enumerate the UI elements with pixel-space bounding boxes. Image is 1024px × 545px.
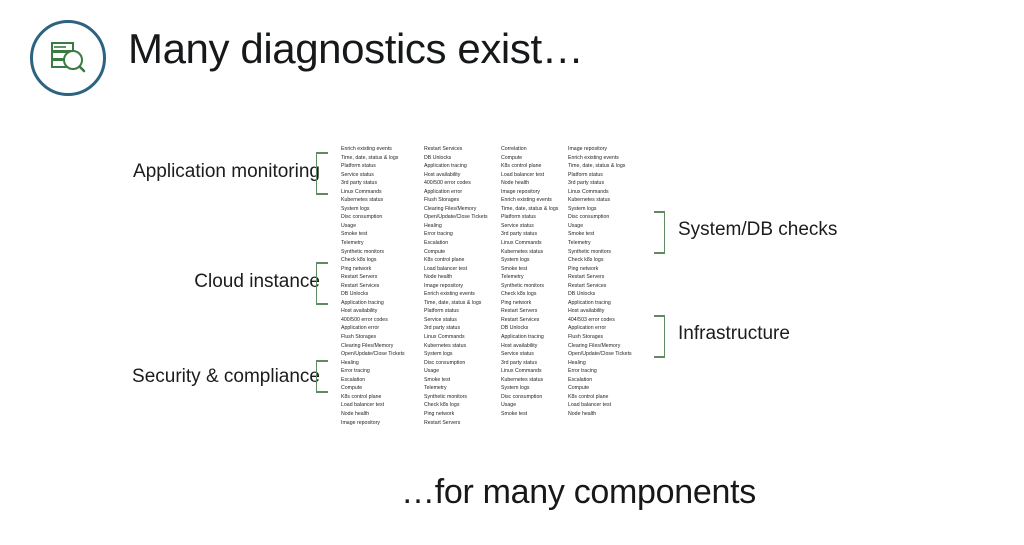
category-label-application-monitoring: Application monitoring <box>133 161 320 183</box>
diagnostic-item: Restart Servers <box>501 307 558 316</box>
diagnostic-item: Check k8s logs <box>568 256 632 265</box>
diagnostic-item: K8s control plane <box>424 256 488 265</box>
diagnostic-item: Clearing Files/Memory <box>424 205 488 214</box>
diagnostic-item: Compute <box>501 154 558 163</box>
diagnostic-item: Image repository <box>424 282 488 291</box>
bracket-application-monitoring <box>316 152 327 195</box>
diagnostic-item: Usage <box>501 401 558 410</box>
diagnostic-item: Clearing Files/Memory <box>568 342 632 351</box>
diagnostic-item: Restart Servers <box>424 419 488 428</box>
diagnostic-item: Telemetry <box>424 384 488 393</box>
diagnostic-item: DB Unlocks <box>424 154 488 163</box>
diagnostic-item: Host availability <box>424 171 488 180</box>
diagnostic-item: Disc consumption <box>501 393 558 402</box>
diagnostic-item: Ping network <box>341 265 405 274</box>
diagnostic-item: Linux Commands <box>501 367 558 376</box>
diagnostic-item: Host availability <box>568 307 632 316</box>
diagnostic-item: Application tracing <box>568 299 632 308</box>
diagnostic-item: Enrich existing events <box>424 290 488 299</box>
diagnostic-item: Ping network <box>568 265 632 274</box>
diagnostic-item: Synthetic monitors <box>341 248 405 257</box>
bracket-system-db-checks <box>654 211 665 254</box>
diagnostic-item: Telemetry <box>568 239 632 248</box>
diagnostic-item: System logs <box>424 350 488 359</box>
category-label-system-db-checks: System/DB checks <box>678 219 837 241</box>
diagnostic-item: Escalation <box>341 376 405 385</box>
diagnostic-item: Ping network <box>424 410 488 419</box>
diagnostic-item: Enrich existing events <box>341 145 405 154</box>
diagnostics-column: CorrelationComputeK8s control planeLoad … <box>501 145 558 419</box>
diagnostic-item: Image repository <box>341 419 405 428</box>
slide-footer-text: …for many components <box>401 470 756 514</box>
diagnostic-item: Application error <box>568 324 632 333</box>
diagnostic-item: Service status <box>341 171 405 180</box>
diagnostic-item: Application tracing <box>424 162 488 171</box>
diagnostic-item: Service status <box>501 350 558 359</box>
diagnostic-item: Restart Services <box>424 145 488 154</box>
diagnostic-item: Image repository <box>501 188 558 197</box>
diagnostic-item: Synthetic monitors <box>501 282 558 291</box>
diagnostic-item: Kubernetes status <box>501 376 558 385</box>
diagnostic-item: Open/Update/Close Tickets <box>568 350 632 359</box>
diagnostic-item: Platform status <box>501 213 558 222</box>
diagnostic-item: Image repository <box>568 145 632 154</box>
diagnostic-item: Escalation <box>424 239 488 248</box>
diagnostic-item: Error tracing <box>424 230 488 239</box>
diagnostic-item: Check k8s logs <box>424 401 488 410</box>
bracket-infrastructure <box>654 315 665 358</box>
diagnostic-item: Check k8s logs <box>341 256 405 265</box>
diagnostic-item: Usage <box>341 222 405 231</box>
diagnostic-item: Compute <box>568 384 632 393</box>
bracket-security-and-compliance <box>316 360 327 393</box>
diagnostic-item: Kubernetes status <box>501 248 558 257</box>
diagnostic-item: Smoke test <box>424 376 488 385</box>
diagnostic-item: Restart Servers <box>341 273 405 282</box>
diagnostic-item: Application error <box>424 188 488 197</box>
database-search-icon <box>48 38 88 78</box>
diagnostic-item: Kubernetes status <box>341 196 405 205</box>
diagnostic-item: Node health <box>501 179 558 188</box>
diagnostic-item: Correlation <box>501 145 558 154</box>
diagnostic-item: 3rd party status <box>501 230 558 239</box>
diagnostic-item: Healing <box>568 359 632 368</box>
diagnostic-item: DB Unlocks <box>341 290 405 299</box>
diagnostic-item: 400/500 error codes <box>424 179 488 188</box>
diagnostic-item: 3rd party status <box>424 324 488 333</box>
diagnostic-item: 404/503 error codes <box>568 316 632 325</box>
diagnostic-item: Node health <box>568 410 632 419</box>
diagnostic-item: Smoke test <box>341 230 405 239</box>
diagnostic-item: Kubernetes status <box>424 342 488 351</box>
diagnostic-item: System logs <box>341 205 405 214</box>
diagnostic-item: Enrich existing events <box>568 154 632 163</box>
diagnostic-item: Escalation <box>568 376 632 385</box>
diagnostic-item: Load balancer test <box>424 265 488 274</box>
bracket-cloud-instance <box>316 262 327 305</box>
diagnostic-item: Application tracing <box>341 299 405 308</box>
diagnostic-item: Load balancer test <box>501 171 558 180</box>
diagnostic-item: System logs <box>501 256 558 265</box>
diagnostic-item: Open/Update/Close Tickets <box>424 213 488 222</box>
diagnostic-item: Enrich existing events <box>501 196 558 205</box>
diagnostic-item: DB Unlocks <box>568 290 632 299</box>
logo-circle <box>30 20 106 96</box>
diagnostics-column: Restart ServicesDB UnlocksApplication tr… <box>424 145 488 427</box>
diagnostic-item: Smoke test <box>501 265 558 274</box>
diagnostic-item: Restart Services <box>341 282 405 291</box>
diagnostics-column: Enrich existing eventsTime, date, status… <box>341 145 405 427</box>
diagnostic-item: Service status <box>424 316 488 325</box>
diagnostic-item: System logs <box>568 205 632 214</box>
category-label-infrastructure: Infrastructure <box>678 323 790 345</box>
diagnostic-item: Clearing Files/Memory <box>341 342 405 351</box>
diagnostic-item: Flush Storages <box>568 333 632 342</box>
diagnostic-item: Restart Services <box>501 316 558 325</box>
diagnostic-item: Platform status <box>341 162 405 171</box>
diagnostic-item: Flush Storages <box>341 333 405 342</box>
diagnostic-item: Compute <box>424 248 488 257</box>
diagnostic-item: Node health <box>341 410 405 419</box>
diagnostic-item: Linux Commands <box>501 239 558 248</box>
diagnostic-item: Usage <box>424 367 488 376</box>
page-title: Many diagnostics exist… <box>128 23 583 75</box>
diagnostic-item: Node health <box>424 273 488 282</box>
diagnostic-item: Linux Commands <box>341 188 405 197</box>
diagnostic-item: Time, date, status & logs <box>568 162 632 171</box>
diagnostic-item: Restart Services <box>568 282 632 291</box>
diagnostic-item: Time, date, status & logs <box>424 299 488 308</box>
diagnostic-item: System logs <box>501 384 558 393</box>
diagnostics-column: Image repositoryEnrich existing eventsTi… <box>568 145 632 419</box>
diagnostic-item: Restart Servers <box>568 273 632 282</box>
diagnostic-item: Disc consumption <box>341 213 405 222</box>
diagnostic-item: Synthetic monitors <box>424 393 488 402</box>
diagnostic-item: Open/Update/Close Tickets <box>341 350 405 359</box>
diagnostic-item: Smoke test <box>568 230 632 239</box>
diagnostic-item: Telemetry <box>501 273 558 282</box>
diagnostic-item: Load balancer test <box>341 401 405 410</box>
category-label-security-and-compliance: Security & compliance <box>132 366 320 388</box>
diagnostic-item: Check k8s logs <box>501 290 558 299</box>
diagnostic-item: Load balancer test <box>568 401 632 410</box>
diagnostic-item: Linux Commands <box>424 333 488 342</box>
diagnostic-item: 400/500 error codes <box>341 316 405 325</box>
diagnostic-item: Service status <box>501 222 558 231</box>
diagnostic-item: K8s control plane <box>341 393 405 402</box>
diagnostic-item: Flush Storages <box>424 196 488 205</box>
diagnostic-item: K8s control plane <box>568 393 632 402</box>
diagnostic-item: Host availability <box>501 342 558 351</box>
diagnostic-item: Time, date, status & logs <box>501 205 558 214</box>
diagnostic-item: Application error <box>341 324 405 333</box>
diagnostic-item: K8s control plane <box>501 162 558 171</box>
slide-header: Many diagnostics exist… <box>0 0 1024 120</box>
diagnostic-item: 3rd party status <box>568 179 632 188</box>
diagnostic-item: Disc consumption <box>424 359 488 368</box>
diagnostic-item: Kubernetes status <box>568 196 632 205</box>
diagnostic-item: 3rd party status <box>501 359 558 368</box>
diagnostic-item: 3rd party status <box>341 179 405 188</box>
diagnostic-item: Application tracing <box>501 333 558 342</box>
diagnostic-item: Disc consumption <box>568 213 632 222</box>
diagnostic-item: Healing <box>424 222 488 231</box>
diagnostic-item: Compute <box>341 384 405 393</box>
diagnostic-item: Ping network <box>501 299 558 308</box>
diagnostic-item: Linux Commands <box>568 188 632 197</box>
diagnostic-item: Synthetic monitors <box>568 248 632 257</box>
diagnostic-item: Usage <box>568 222 632 231</box>
diagnostic-item: Smoke test <box>501 410 558 419</box>
diagnostic-item: DB Unlocks <box>501 324 558 333</box>
category-label-cloud-instance: Cloud instance <box>194 271 320 293</box>
diagnostic-item: Telemetry <box>341 239 405 248</box>
diagnostic-item: Platform status <box>424 307 488 316</box>
diagnostics-grid: Enrich existing eventsTime, date, status… <box>341 145 653 395</box>
diagnostic-item: Time, date, status & logs <box>341 154 405 163</box>
diagnostic-item: Error tracing <box>568 367 632 376</box>
diagnostic-item: Host availability <box>341 307 405 316</box>
diagnostic-item: Platform status <box>568 171 632 180</box>
diagnostic-item: Healing <box>341 359 405 368</box>
diagnostic-item: Error tracing <box>341 367 405 376</box>
